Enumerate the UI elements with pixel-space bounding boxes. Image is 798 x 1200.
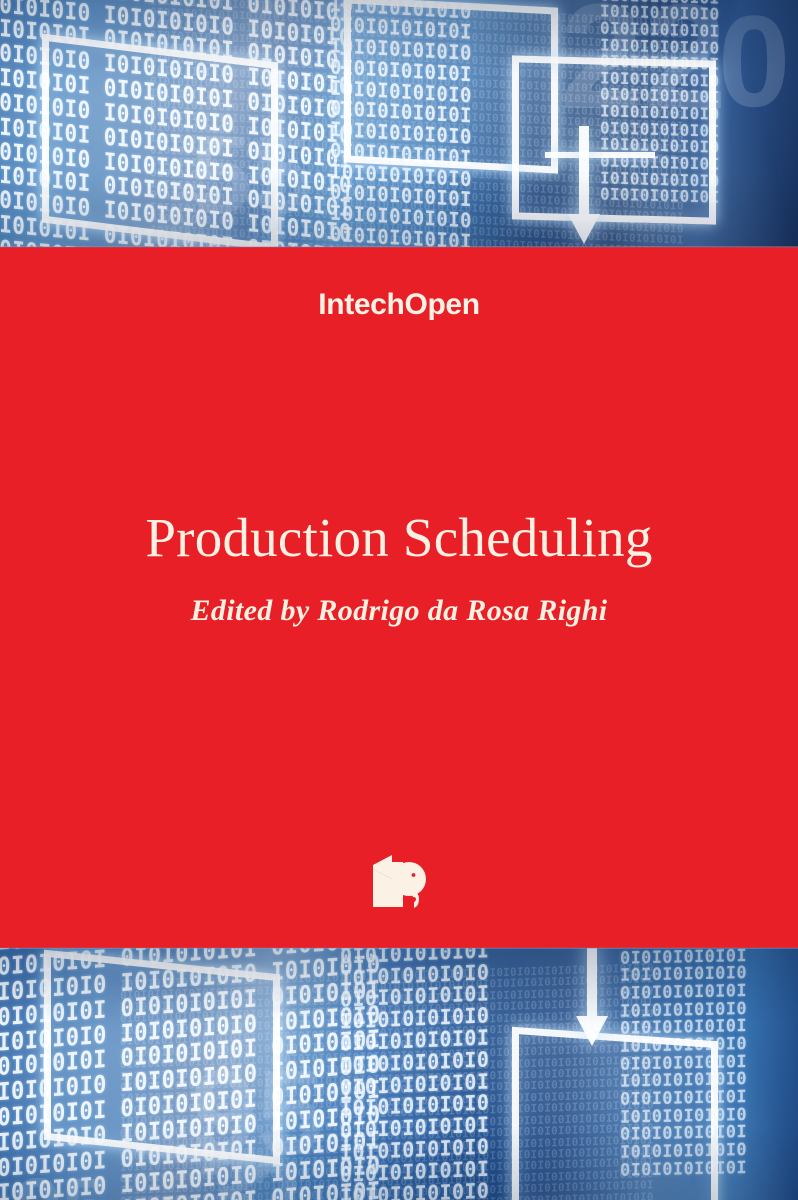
- publisher-brand-name: IntechOpen: [0, 288, 798, 322]
- book-editor-line: Edited by Rodrigo da Rosa Righi: [0, 594, 798, 628]
- book-cover: I0I0I0I0I0I0I0I0I0I0I0I0I0I0I0I0I0I0I0I0…: [0, 0, 798, 1200]
- artwork-base-gradient-bottom: [0, 948, 798, 1200]
- cover-artwork-bottom: I0I0I0I0I0I0I0I0I0I0I0I0I0I0I0I0I0I0I0I0…: [0, 948, 798, 1200]
- artwork-base-gradient-top: [0, 0, 798, 248]
- book-title: Production Scheduling: [0, 508, 798, 567]
- intechopen-elephant-logo: [369, 853, 431, 909]
- cover-artwork-top: I0I0I0I0I0I0I0I0I0I0I0I0I0I0I0I0I0I0I0I0…: [0, 0, 798, 248]
